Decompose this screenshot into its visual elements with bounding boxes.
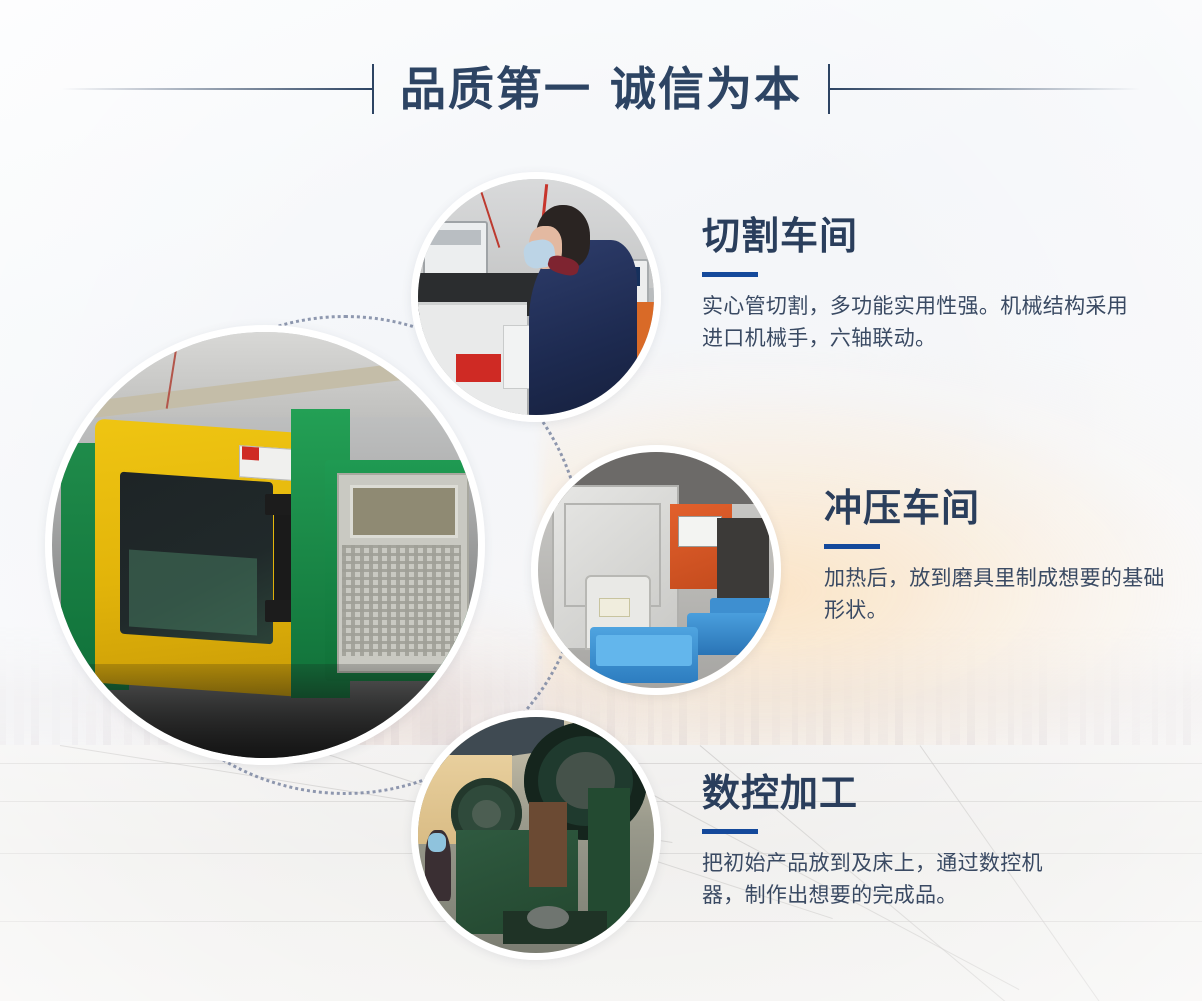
stamping-machine-photo (538, 452, 774, 688)
feature-block-stamping: 冲压车间 加热后，放到磨具里制成想要的基础形状。 (824, 490, 1174, 628)
injection-molding-machine-photo (52, 332, 478, 758)
page-title: 品质第一诚信为本 (374, 66, 828, 112)
feature-block-machining: 数控加工 把初始产品放到及床上，通过数控机器，制作出想要的完成品。 (702, 775, 1054, 913)
feature-accent-bar-stamping (824, 544, 880, 549)
header-rule-left (62, 64, 374, 114)
feature-photo-circle-machining (411, 710, 661, 960)
feature-description-cutting: 实心管切割，多功能实用性强。机械结构采用进口机械手，六轴联动。 (702, 291, 1142, 356)
feature-accent-bar-machining (702, 829, 758, 834)
feature-description-stamping: 加热后，放到磨具里制成想要的基础形状。 (824, 563, 1174, 628)
feature-photo-circle-stamping (531, 445, 781, 695)
header-rule-left-line (62, 88, 372, 90)
page-header: 品质第一诚信为本 (0, 44, 1202, 134)
page-title-part2: 诚信为本 (610, 63, 802, 115)
page-title-part1: 品质第一 (400, 63, 592, 115)
header-rule-right (828, 64, 1140, 114)
header-rule-left-tick (372, 64, 374, 114)
feature-block-cutting: 切割车间 实心管切割，多功能实用性强。机械结构采用进口机械手，六轴联动。 (702, 218, 1142, 356)
cnc-lathe-worker-photo (418, 179, 654, 415)
feature-title-cutting: 切割车间 (702, 218, 1142, 258)
feature-accent-bar-cutting (702, 272, 758, 277)
header-rule-right-line (830, 88, 1140, 90)
feature-photo-circle-cutting (411, 172, 661, 422)
feature-description-machining: 把初始产品放到及床上，通过数控机器，制作出想要的完成品。 (702, 848, 1054, 913)
page-root: 品质第一诚信为本 (0, 0, 1202, 1001)
punch-press-photo (418, 717, 654, 953)
feature-title-machining: 数控加工 (702, 775, 1054, 815)
feature-title-stamping: 冲压车间 (824, 490, 1174, 530)
